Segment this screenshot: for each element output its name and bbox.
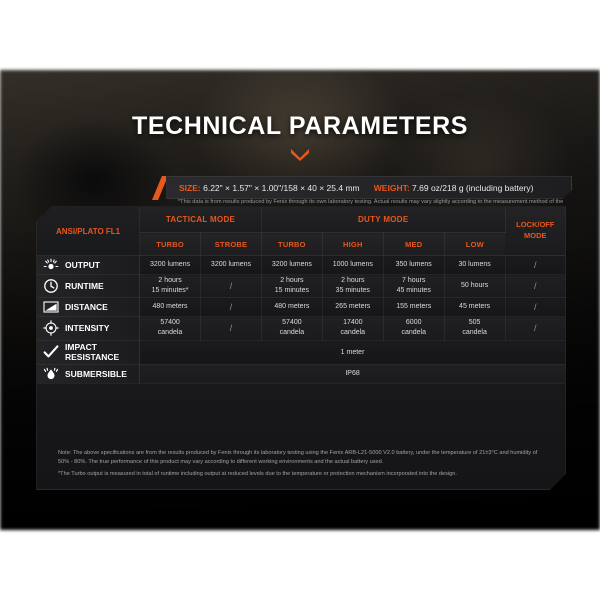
cell-3-0: 57400candela <box>140 317 201 340</box>
cell-0-4: 350 lumens <box>383 256 444 275</box>
row-label-text: RUNTIME <box>65 281 104 292</box>
cell-1-lock: / <box>505 275 565 298</box>
cell-0-5: 30 lumens <box>444 256 505 275</box>
row-label-text: OUTPUT <box>65 260 100 271</box>
table-row: RUNTIME2 hours15 minutes*/2 hours15 minu… <box>37 275 565 298</box>
cell-1-3: 2 hours35 minutes <box>322 275 383 298</box>
checkmark-icon <box>43 344 59 360</box>
group-duty-mode: DUTY MODE <box>261 207 505 233</box>
group-tactical-mode: TACTICAL MODE <box>140 207 262 233</box>
cell-2-3: 265 meters <box>322 298 383 317</box>
submode-duty-med: MED <box>383 233 444 256</box>
submode-duty-turbo: TURBO <box>261 233 322 256</box>
cell-3-1: / <box>201 317 262 340</box>
footnote-note: Note: The above specifications are from … <box>58 449 550 467</box>
row-label-text: SUBMERSIBLE <box>65 369 127 380</box>
cell-0-1: 3200 lumens <box>201 256 262 275</box>
row-label-runtime: RUNTIME <box>37 275 140 298</box>
technical-parameters-infographic: TECHNICAL PARAMETERS SIZE: 6.22" × 1.57"… <box>0 0 600 600</box>
ansi-plato-label: ANSI/PLATO FL1 <box>37 207 140 256</box>
footnote-turbo: *The Turbo output is measured in total o… <box>58 470 550 479</box>
weight-label: WEIGHT: <box>374 183 410 193</box>
row-label-impact-resistance: IMPACTRESISTANCE <box>37 340 140 364</box>
specs-table: ANSI/PLATO FL1 TACTICAL MODE DUTY MODE L… <box>37 207 565 384</box>
cell-0-2: 3200 lumens <box>261 256 322 275</box>
cell-3-5: 505candela <box>444 317 505 340</box>
table-row: INTENSITY57400candela/57400candela17400c… <box>37 317 565 340</box>
cell-3-lock: / <box>505 317 565 340</box>
cell-2-4: 155 meters <box>383 298 444 317</box>
table-row: DISTANCE480 meters/480 meters265 meters1… <box>37 298 565 317</box>
cell-2-5: 45 meters <box>444 298 505 317</box>
cell-1-2: 2 hours15 minutes <box>261 275 322 298</box>
submode-tactical-strobe: STROBE <box>201 233 262 256</box>
row-label-text: IMPACTRESISTANCE <box>65 342 119 363</box>
lock-off-line1: LOCK/OFF <box>516 220 554 229</box>
table-row: IMPACTRESISTANCE1 meter <box>37 340 565 364</box>
target-crosshair-icon <box>43 320 59 336</box>
clock-icon <box>43 278 59 294</box>
table-row: OUTPUT3200 lumens3200 lumens3200 lumens1… <box>37 256 565 275</box>
row-label-distance: DISTANCE <box>37 298 140 317</box>
cell-2-1: / <box>201 298 262 317</box>
cell-3-4: 6000candela <box>383 317 444 340</box>
size-label: SIZE: <box>179 183 201 193</box>
row-label-output: OUTPUT <box>37 256 140 275</box>
cell-3-3: 17400candela <box>322 317 383 340</box>
cell-0-lock: / <box>505 256 565 275</box>
beam-cone-icon <box>43 299 59 315</box>
specs-panel: ANSI/PLATO FL1 TACTICAL MODE DUTY MODE L… <box>36 206 566 490</box>
cell-1-0: 2 hours15 minutes* <box>140 275 201 298</box>
cell-3-2: 57400candela <box>261 317 322 340</box>
lock-off-line2: MODE <box>524 231 547 240</box>
chevron-down-icon <box>290 148 310 161</box>
size-weight-bar: SIZE: 6.22" × 1.57" × 1.00"/158 × 40 × 2… <box>166 176 572 199</box>
lock-off-mode-header: LOCK/OFF MODE <box>505 207 565 256</box>
submode-duty-high: HIGH <box>322 233 383 256</box>
size-value: 6.22" × 1.57" × 1.00"/158 × 40 × 25.4 mm <box>203 183 360 193</box>
cell-0-0: 3200 lumens <box>140 256 201 275</box>
light-burst-icon <box>43 257 59 273</box>
submode-tactical-turbo: TURBO <box>140 233 201 256</box>
cell-fullwidth-0: 1 meter <box>140 340 565 364</box>
water-splash-icon <box>43 366 59 382</box>
submode-duty-low: LOW <box>444 233 505 256</box>
cell-fullwidth-1: IP68 <box>140 364 565 383</box>
cell-1-5: 50 hours <box>444 275 505 298</box>
table-group-header-row: ANSI/PLATO FL1 TACTICAL MODE DUTY MODE L… <box>37 207 565 233</box>
cell-1-1: / <box>201 275 262 298</box>
row-label-text: DISTANCE <box>65 302 108 313</box>
row-label-intensity: INTENSITY <box>37 317 140 340</box>
cell-0-3: 1000 lumens <box>322 256 383 275</box>
specs-table-body: OUTPUT3200 lumens3200 lumens3200 lumens1… <box>37 256 565 384</box>
weight-value: 7.69 oz/218 g (including battery) <box>412 183 533 193</box>
row-label-submersible: SUBMERSIBLE <box>37 364 140 383</box>
cell-2-lock: / <box>505 298 565 317</box>
cell-2-2: 480 meters <box>261 298 322 317</box>
cell-1-4: 7 hours45 minutes <box>383 275 444 298</box>
table-row: SUBMERSIBLEIP68 <box>37 364 565 383</box>
page-title: TECHNICAL PARAMETERS <box>0 112 600 141</box>
row-label-text: INTENSITY <box>65 323 109 334</box>
cell-2-0: 480 meters <box>140 298 201 317</box>
